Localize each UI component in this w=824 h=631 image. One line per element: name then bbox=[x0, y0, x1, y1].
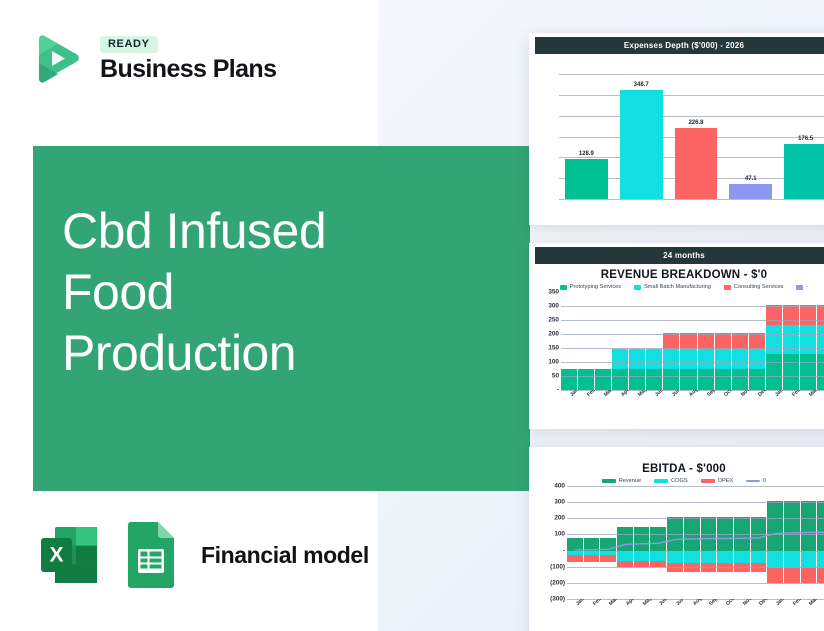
x-axis-tick: Jan-26 bbox=[561, 390, 577, 416]
legend-label: Consulting Services bbox=[734, 284, 783, 290]
legend-swatch bbox=[560, 285, 567, 290]
chart-2-bar-segment[interactable] bbox=[612, 369, 628, 390]
legend-swatch bbox=[724, 285, 731, 290]
chart-3-bar-segment[interactable] bbox=[767, 501, 783, 551]
x-axis-tick: Jul-26 bbox=[663, 390, 679, 416]
chart-2-gridline bbox=[561, 320, 824, 321]
legend-item[interactable]: Consulting Services bbox=[724, 284, 783, 290]
chart-3-gridline bbox=[567, 486, 824, 487]
chart-2-bar-segment[interactable] bbox=[800, 305, 816, 325]
chart-2-bar-segment[interactable] bbox=[766, 305, 782, 325]
legend-label: COGS bbox=[671, 478, 687, 484]
chart-2-gridline bbox=[561, 306, 824, 307]
legend-swatch bbox=[634, 285, 641, 290]
legend-swatch bbox=[602, 479, 616, 483]
chart-3-bar-segment[interactable] bbox=[567, 555, 583, 561]
x-axis-tick: Feb-26 bbox=[584, 599, 600, 625]
chart-2-bar-segment[interactable] bbox=[612, 349, 628, 369]
financial-model-label: Financial model bbox=[201, 542, 369, 569]
y-axis-tick-label: 200 bbox=[548, 331, 559, 338]
chart-2-y-axis: 35030025020015010050- bbox=[535, 292, 559, 390]
chart-2-inner: 24 months REVENUE BREAKDOWN - $'0 Protot… bbox=[529, 243, 824, 418]
chart-1-bar[interactable] bbox=[565, 159, 608, 199]
chart-3-plot-area bbox=[567, 486, 824, 599]
y-axis-tick-label: 250 bbox=[548, 317, 559, 324]
chart-3-gridline bbox=[567, 583, 824, 584]
chart-1-inner: Expenses Depth ($'000) - 2026 128.9348.7… bbox=[529, 33, 824, 201]
chart-3-gridline bbox=[567, 518, 824, 519]
chart-3-bar-segment[interactable] bbox=[634, 551, 650, 561]
y-axis-tick-label: 50 bbox=[552, 373, 559, 380]
chart-1-bar-slot[interactable]: 226.8 bbox=[669, 74, 724, 199]
x-axis-tick: Mar-27 bbox=[800, 390, 816, 416]
legend-swatch bbox=[746, 480, 760, 482]
chart-2-bar-segment[interactable] bbox=[680, 333, 696, 350]
microsoft-excel-icon: X bbox=[33, 519, 105, 591]
chart-1-value-label: 47.1 bbox=[745, 176, 757, 182]
x-axis-tick: Mar-26 bbox=[600, 599, 616, 625]
chart-3-y-axis: 400300200100-(100)(200)(300) bbox=[535, 486, 565, 599]
chart-1-bar-slot[interactable]: 47.1 bbox=[723, 74, 778, 199]
chart-2-bar-segment[interactable] bbox=[749, 369, 765, 390]
chart-3-bar-segment[interactable] bbox=[717, 551, 733, 563]
x-axis-tick: Apr-27 bbox=[817, 390, 824, 416]
chart-2-bar-segment[interactable] bbox=[698, 369, 714, 390]
chart-2-bar-segment[interactable] bbox=[817, 354, 824, 390]
chart-card-revenue-breakdown[interactable]: 24 months REVENUE BREAKDOWN - $'0 Protot… bbox=[529, 243, 824, 429]
legend-label: Prototyping Services bbox=[570, 284, 621, 290]
chart-2-bar-segment[interactable] bbox=[732, 369, 748, 390]
y-axis-tick-label: 400 bbox=[554, 483, 565, 490]
chart-2-gridline bbox=[561, 348, 824, 349]
chart-3-bar-segment[interactable] bbox=[567, 538, 583, 550]
chart-2-bar-segment[interactable] bbox=[646, 349, 662, 369]
legend-label: - bbox=[806, 284, 808, 290]
x-axis-tick: Oct-26 bbox=[715, 390, 731, 416]
chart-3-plot: 400300200100-(100)(200)(300) bbox=[535, 486, 824, 599]
chart-2-bar-segment[interactable] bbox=[663, 369, 679, 390]
chart-1-value-label: 128.9 bbox=[579, 151, 594, 157]
x-axis-tick: Oct-26 bbox=[717, 599, 733, 625]
brand-header: READY Business Plans bbox=[28, 30, 276, 88]
x-axis-tick: Jan-26 bbox=[567, 599, 583, 625]
chart-2-bar-segment[interactable] bbox=[766, 325, 782, 354]
chart-3-bar-segment[interactable] bbox=[751, 551, 767, 563]
chart-2-bar-segment[interactable] bbox=[783, 305, 799, 325]
file-format-footer: X Financial model bbox=[33, 519, 369, 591]
chart-3-legend: RevenueCOGSOPEX0 bbox=[535, 478, 824, 484]
legend-swatch bbox=[796, 285, 803, 290]
y-axis-tick-label: 350 bbox=[548, 289, 559, 296]
chart-2-x-axis-labels: Jan-26Feb-26Mar-26Apr-26May-26Jun-26Jul-… bbox=[561, 390, 824, 416]
chart-1-plot: 128.9348.7226.847.1176.5 bbox=[541, 54, 824, 199]
x-axis-tick: Apr-26 bbox=[617, 599, 633, 625]
legend-item[interactable]: Revenue bbox=[602, 478, 641, 484]
x-axis-tick: May-26 bbox=[629, 390, 645, 416]
x-axis-tick: May-26 bbox=[634, 599, 650, 625]
chart-3-title: EBITDA - $'000 bbox=[535, 463, 824, 475]
legend-label: OPEX bbox=[718, 478, 734, 484]
x-axis-tick: Sep-26 bbox=[698, 390, 714, 416]
x-axis-tick: Jan-27 bbox=[766, 390, 782, 416]
chart-3-bar-segment[interactable] bbox=[801, 551, 817, 569]
legend-item[interactable]: - bbox=[796, 284, 808, 290]
chart-2-bar-segment[interactable] bbox=[749, 333, 765, 350]
chart-1-value-label: 176.5 bbox=[798, 136, 813, 142]
y-axis-tick-label: 300 bbox=[554, 499, 565, 506]
page-title: Cbd Infused Food Production bbox=[62, 201, 510, 384]
brand-text-block: READY Business Plans bbox=[100, 36, 276, 82]
chart-1-bar[interactable] bbox=[620, 90, 663, 199]
chart-3-bar-segment[interactable] bbox=[650, 551, 666, 561]
chart-1-bar-slot[interactable]: 128.9 bbox=[559, 74, 614, 199]
chart-3-bar-segment[interactable] bbox=[701, 551, 717, 563]
chart-1-bar-slot[interactable]: 348.7 bbox=[614, 74, 669, 199]
chart-3-gridline bbox=[567, 567, 824, 568]
chart-2-bar-segment[interactable] bbox=[646, 369, 662, 390]
chart-2-bar-segment[interactable] bbox=[715, 333, 731, 350]
chart-3-bar-segment[interactable] bbox=[650, 527, 666, 550]
chart-2-gridline bbox=[561, 376, 824, 377]
chart-1-bar-group: 128.9348.7226.847.1176.5 bbox=[559, 74, 824, 199]
chart-3-bar-segment[interactable] bbox=[817, 501, 824, 551]
x-axis-tick: Sep-26 bbox=[701, 599, 717, 625]
chart-3-gridline bbox=[567, 551, 824, 552]
y-axis-tick-label: 100 bbox=[548, 359, 559, 366]
x-axis-tick: Jun-26 bbox=[646, 390, 662, 416]
chart-2-bar-segment[interactable] bbox=[800, 354, 816, 390]
chart-2-bar-segment[interactable] bbox=[783, 325, 799, 354]
y-axis-tick-label: - bbox=[557, 387, 559, 394]
legend-label: Small Batch Manufacturing bbox=[644, 284, 711, 290]
chart-2-bar-segment[interactable] bbox=[680, 349, 696, 369]
chart-2-bar-segment[interactable] bbox=[663, 349, 679, 369]
chart-3-bar-segment[interactable] bbox=[734, 551, 750, 563]
x-axis-tick: Jul-26 bbox=[667, 599, 683, 625]
chart-2-bar-segment[interactable] bbox=[680, 369, 696, 390]
play-triangle-logo-icon bbox=[28, 30, 86, 88]
chart-3-bar-segment[interactable] bbox=[784, 568, 800, 583]
chart-3-bar-segment[interactable] bbox=[584, 538, 600, 550]
chart-card-ebitda[interactable]: EBITDA - $'000 RevenueCOGSOPEX0 40030020… bbox=[529, 447, 824, 631]
legend-item[interactable]: Prototyping Services bbox=[560, 284, 621, 290]
chart-2-bar-segment[interactable] bbox=[698, 349, 714, 369]
chart-2-bar-segment[interactable] bbox=[817, 305, 824, 325]
chart-2-bar-segment[interactable] bbox=[629, 349, 645, 369]
x-axis-tick: Feb-27 bbox=[784, 599, 800, 625]
chart-3-bar-segment[interactable] bbox=[584, 555, 600, 561]
y-axis-tick-label: 300 bbox=[548, 303, 559, 310]
y-axis-tick-label: 150 bbox=[548, 345, 559, 352]
x-axis-tick: Jan-27 bbox=[767, 599, 783, 625]
chart-3-bar-segment[interactable] bbox=[684, 551, 700, 563]
chart-3-bar-segment[interactable] bbox=[784, 551, 800, 569]
chart-2-bar-segment[interactable] bbox=[561, 369, 577, 390]
chart-1-title-banner: Expenses Depth ($'000) - 2026 bbox=[535, 37, 824, 54]
chart-2-bar-segment[interactable] bbox=[783, 354, 799, 390]
legend-item[interactable]: 0 bbox=[746, 478, 766, 484]
x-axis-tick: Feb-26 bbox=[578, 390, 594, 416]
x-axis-tick: Nov-26 bbox=[732, 390, 748, 416]
hero-panel: Cbd Infused Food Production bbox=[33, 146, 530, 491]
chart-2-plot-area bbox=[561, 292, 824, 390]
chart-card-expenses-depth[interactable]: Expenses Depth ($'000) - 2026 128.9348.7… bbox=[529, 33, 824, 225]
y-axis-tick-label: - bbox=[563, 547, 565, 554]
chart-3-bar-segment[interactable] bbox=[600, 555, 616, 561]
chart-2-legend: Prototyping ServicesSmall Batch Manufact… bbox=[535, 284, 824, 290]
chart-2-gridline bbox=[561, 362, 824, 363]
legend-swatch bbox=[654, 479, 668, 483]
chart-2-bar-segment[interactable] bbox=[749, 349, 765, 369]
chart-3-bar-segment[interactable] bbox=[767, 551, 783, 569]
legend-label: 0 bbox=[763, 478, 766, 484]
chart-3-bar-segment[interactable] bbox=[617, 551, 633, 561]
x-axis-tick: Nov-26 bbox=[734, 599, 750, 625]
chart-2-bar-segment[interactable] bbox=[629, 369, 645, 390]
legend-label: Revenue bbox=[619, 478, 641, 484]
chart-1-value-label: 348.7 bbox=[634, 82, 649, 88]
chart-2-bar-segment[interactable] bbox=[578, 369, 594, 390]
chart-2-bar-segment[interactable] bbox=[800, 325, 816, 354]
chart-3-bar-segment[interactable] bbox=[817, 551, 824, 569]
x-axis-tick: Dec-26 bbox=[749, 390, 765, 416]
chart-3-bar-segment[interactable] bbox=[817, 568, 824, 583]
y-axis-tick-label: (100) bbox=[550, 563, 565, 570]
chart-2-bar-segment[interactable] bbox=[698, 333, 714, 350]
chart-3-bar-segment[interactable] bbox=[667, 551, 683, 563]
chart-1-bar[interactable] bbox=[729, 184, 772, 199]
x-axis-tick: Feb-27 bbox=[783, 390, 799, 416]
chart-2-banner: 24 months bbox=[535, 247, 824, 264]
chart-3-gridline bbox=[567, 534, 824, 535]
y-axis-tick-label: 200 bbox=[554, 515, 565, 522]
x-axis-tick: Mar-26 bbox=[595, 390, 611, 416]
y-axis-tick-label: 100 bbox=[554, 531, 565, 538]
chart-3-bar-segment[interactable] bbox=[801, 568, 817, 583]
chart-2-bar-segment[interactable] bbox=[715, 369, 731, 390]
x-axis-tick: Jun-26 bbox=[650, 599, 666, 625]
chart-2-bar-segment[interactable] bbox=[663, 333, 679, 350]
chart-1-bar[interactable] bbox=[675, 128, 718, 199]
chart-3-x-axis-labels: Jan-26Feb-26Mar-26Apr-26May-26Jun-26Jul-… bbox=[567, 599, 824, 625]
chart-3-bar-segment[interactable] bbox=[784, 501, 800, 551]
chart-3-bar-segment[interactable] bbox=[617, 527, 633, 550]
chart-3-inner: EBITDA - $'000 RevenueCOGSOPEX0 40030020… bbox=[529, 447, 824, 627]
chart-2-bar-segment[interactable] bbox=[732, 349, 748, 369]
chart-3-bar-segment[interactable] bbox=[767, 568, 783, 583]
y-axis-tick-label: (300) bbox=[550, 596, 565, 603]
chart-1-bar-slot[interactable]: 176.5 bbox=[778, 74, 824, 199]
chart-3-bar-segment[interactable] bbox=[600, 538, 616, 550]
x-axis-tick: Apr-26 bbox=[612, 390, 628, 416]
svg-text:X: X bbox=[49, 544, 63, 567]
x-axis-tick: Dec-26 bbox=[751, 599, 767, 625]
poster-canvas: READY Business Plans Cbd Infused Food Pr… bbox=[0, 0, 824, 631]
google-sheets-icon bbox=[120, 519, 180, 591]
chart-2-bar-segment[interactable] bbox=[766, 354, 782, 390]
chart-3-bar-segment[interactable] bbox=[801, 501, 817, 551]
chart-2-title: REVENUE BREAKDOWN - $'0 bbox=[535, 269, 824, 281]
chart-2-gridline bbox=[561, 334, 824, 335]
chart-2-bar-segment[interactable] bbox=[715, 349, 731, 369]
x-axis-tick: Apr-27 bbox=[817, 599, 824, 625]
y-axis-tick-label: (200) bbox=[550, 579, 565, 586]
chart-2-plot: 35030025020015010050- bbox=[535, 292, 824, 390]
brand-title: Business Plans bbox=[100, 56, 276, 82]
chart-3-bar-segment[interactable] bbox=[634, 527, 650, 550]
chart-1-value-label: 226.8 bbox=[688, 120, 703, 126]
x-axis-tick: Mar-27 bbox=[801, 599, 817, 625]
chart-2-bar-segment[interactable] bbox=[817, 325, 824, 354]
x-axis-tick: Aug-26 bbox=[684, 599, 700, 625]
chart-2-bar-segment[interactable] bbox=[595, 369, 611, 390]
chart-2-bar-segment[interactable] bbox=[732, 333, 748, 350]
chart-3-gridline bbox=[567, 502, 824, 503]
legend-item[interactable]: COGS bbox=[654, 478, 687, 484]
ready-badge: READY bbox=[100, 36, 158, 53]
chart-1-bar[interactable] bbox=[784, 144, 824, 199]
chart-1-gridline bbox=[559, 199, 824, 200]
legend-item[interactable]: OPEX bbox=[701, 478, 734, 484]
legend-item[interactable]: Small Batch Manufacturing bbox=[634, 284, 711, 290]
x-axis-tick: Aug-26 bbox=[680, 390, 696, 416]
legend-swatch bbox=[701, 479, 715, 483]
